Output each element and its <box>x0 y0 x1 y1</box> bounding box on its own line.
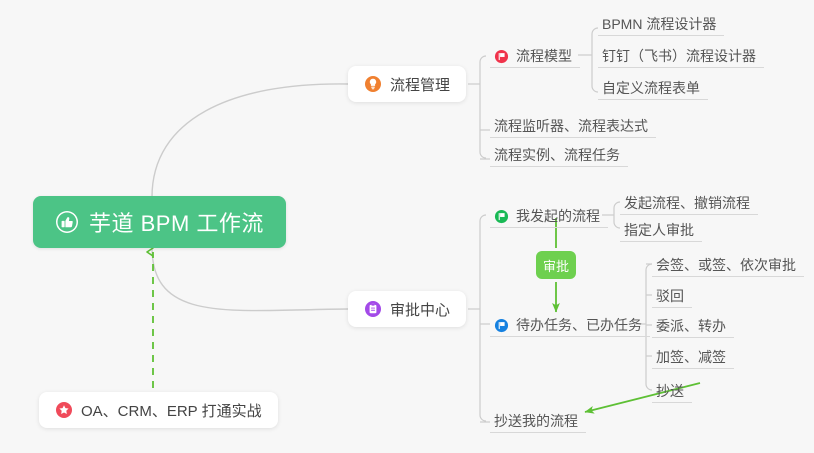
leaf-node-label: 指定人审批 <box>624 221 694 239</box>
connector-root-to-process-mgmt <box>152 84 348 197</box>
leaf-node-cc[interactable]: 抄送 <box>652 375 692 403</box>
child-node-label: 流程监听器、流程表达式 <box>494 117 648 135</box>
spine-approval-center <box>480 215 486 421</box>
star-icon <box>55 401 73 419</box>
child-node-my-initiated-process[interactable]: 我发起的流程 <box>490 200 608 228</box>
leaf-node-label: 会签、或签、依次审批 <box>656 256 796 274</box>
mindmap-canvas: 芋道 BPM 工作流 OA、CRM、ERP 打通实战 流程管理 <box>0 0 814 453</box>
flag-icon <box>494 209 509 224</box>
annotation-tag-label: 审批 <box>543 256 569 275</box>
root-node[interactable]: 芋道 BPM 工作流 <box>33 196 286 248</box>
flag-icon <box>494 318 509 333</box>
note-node-label: OA、CRM、ERP 打通实战 <box>81 400 262 421</box>
leaf-node-reject[interactable]: 驳回 <box>652 280 692 308</box>
leaf-node-label: 抄送 <box>656 382 684 400</box>
annotation-tag-approval[interactable]: 审批 <box>536 251 576 279</box>
note-node-integration[interactable]: OA、CRM、ERP 打通实战 <box>39 392 278 428</box>
clipboard-icon <box>364 300 382 318</box>
leaf-node-countersign[interactable]: 会签、或签、依次审批 <box>652 249 804 277</box>
leaf-node-label: 驳回 <box>656 287 684 305</box>
leaf-node-assignee-approval[interactable]: 指定人审批 <box>620 214 702 242</box>
child-node-todo-done-tasks[interactable]: 待办任务、已办任务 <box>490 309 650 337</box>
leaf-node-bpmn-designer[interactable]: BPMN 流程设计器 <box>598 8 724 36</box>
leaf-node-label: 钉钉（飞书）流程设计器 <box>602 47 756 65</box>
branch-node-label: 审批中心 <box>390 299 450 320</box>
child-node-label: 抄送我的流程 <box>494 412 578 430</box>
child-node-instance-task[interactable]: 流程实例、流程任务 <box>490 139 628 167</box>
leaf-node-label: BPMN 流程设计器 <box>602 15 716 33</box>
branch-node-approval-center[interactable]: 审批中心 <box>348 291 466 327</box>
leaf-node-label: 加签、减签 <box>656 348 726 366</box>
leaf-node-add-remove-sign[interactable]: 加签、减签 <box>652 341 734 369</box>
child-node-cc-to-me[interactable]: 抄送我的流程 <box>490 405 586 433</box>
flag-icon <box>494 49 509 64</box>
leaf-node-label: 发起流程、撤销流程 <box>624 194 750 212</box>
root-node-label: 芋道 BPM 工作流 <box>89 206 264 238</box>
leaf-node-label: 自定义流程表单 <box>602 79 700 97</box>
leaf-node-dingtalk-designer[interactable]: 钉钉（飞书）流程设计器 <box>598 40 764 68</box>
branch-node-process-management[interactable]: 流程管理 <box>348 66 466 102</box>
connector-root-to-approval-center <box>152 247 348 311</box>
child-node-listener-expression[interactable]: 流程监听器、流程表达式 <box>490 110 656 138</box>
child-node-label: 流程实例、流程任务 <box>494 146 620 164</box>
spine-process-mgmt <box>480 56 486 158</box>
leaf-node-custom-form[interactable]: 自定义流程表单 <box>598 72 708 100</box>
thumbs-up-icon <box>55 210 79 234</box>
child-node-label: 我发起的流程 <box>516 207 600 225</box>
branch-node-label: 流程管理 <box>390 74 450 95</box>
child-node-process-model[interactable]: 流程模型 <box>490 40 580 68</box>
child-node-label: 待办任务、已办任务 <box>516 316 642 334</box>
leaf-node-label: 委派、转办 <box>656 317 726 335</box>
leaf-node-start-cancel-process[interactable]: 发起流程、撤销流程 <box>620 187 758 215</box>
lightbulb-pin-icon <box>364 75 382 93</box>
leaf-node-delegate-transfer[interactable]: 委派、转办 <box>652 310 734 338</box>
child-node-label: 流程模型 <box>516 47 572 65</box>
